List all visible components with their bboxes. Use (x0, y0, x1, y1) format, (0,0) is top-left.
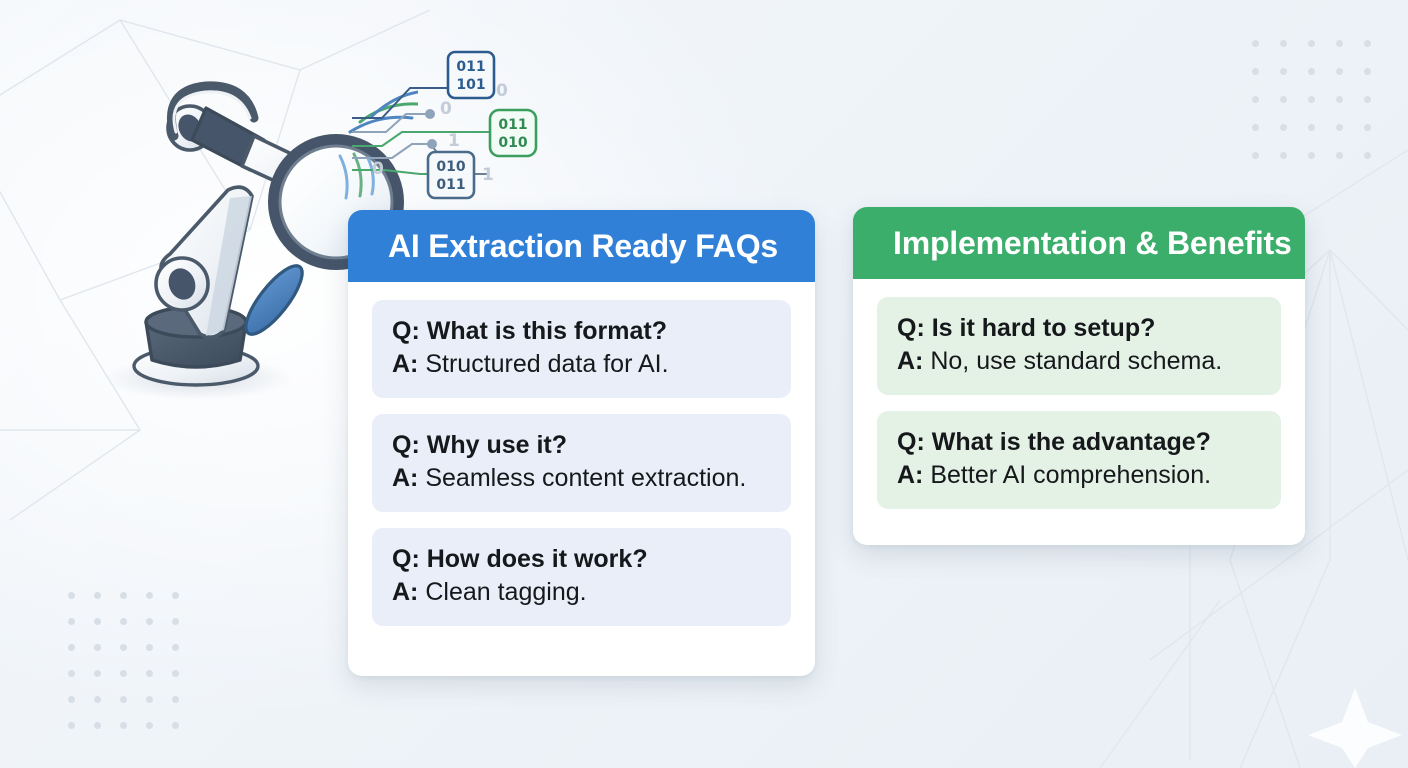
grid-dot (1308, 40, 1315, 47)
faq-item[interactable]: Q: What is this format? A: Structured da… (372, 300, 791, 398)
circuit-trace-slate-1 (352, 114, 428, 132)
svg-text:011: 011 (498, 117, 527, 133)
grid-dot (68, 722, 75, 729)
grid-dot (1336, 152, 1343, 159)
grid-dot (68, 644, 75, 651)
binary-box-green: 011 010 (490, 110, 536, 156)
answer-text: Better AI comprehension. (930, 461, 1211, 489)
faq-question-line: Q: Why use it? (392, 429, 771, 462)
faq-answer-line: A: No, use standard schema. (897, 345, 1261, 378)
grid-dot (68, 696, 75, 703)
answer-tag: A: (897, 347, 923, 375)
faq-item[interactable]: Q: Why use it? A: Seamless content extra… (372, 414, 791, 512)
faq-item[interactable]: Q: What is the advantage? A: Better AI c… (877, 411, 1281, 509)
question-tag: Q: (392, 317, 420, 345)
grid-dot (94, 696, 101, 703)
grid-dot (1308, 152, 1315, 159)
grid-dot (1252, 68, 1259, 75)
grid-dot (172, 722, 179, 729)
faq-question-line: Q: Is it hard to setup? (897, 312, 1261, 345)
faq-item[interactable]: Q: How does it work? A: Clean tagging. (372, 528, 791, 626)
binary-box-blue: 011 101 (448, 52, 494, 98)
loose-digit-0-c: 0 (372, 159, 384, 179)
answer-text: Structured data for AI. (425, 350, 668, 378)
grid-dot (1280, 40, 1287, 47)
grid-dot (1280, 96, 1287, 103)
binary-box-slate: 010 011 (428, 152, 474, 198)
faq-answer-line: A: Structured data for AI. (392, 348, 771, 381)
grid-dot (172, 644, 179, 651)
grid-dot (1364, 68, 1371, 75)
grid-dot (1364, 40, 1371, 47)
card-body-left: Q: What is this format? A: Structured da… (348, 282, 815, 650)
faq-card-ai-extraction-ready: AI Extraction Ready FAQs Q: What is this… (348, 210, 815, 676)
question-tag: Q: (897, 428, 925, 456)
grid-dot (146, 592, 153, 599)
grid-dot (120, 592, 127, 599)
question-tag: Q: (897, 314, 925, 342)
grid-dot (146, 644, 153, 651)
grid-dot (1280, 124, 1287, 131)
grid-dot (172, 696, 179, 703)
card-title-right: Implementation & Benefits (893, 227, 1292, 259)
binary-circuit-graphic: 0 0 1 0 1 011 101 011 010 010 011 (352, 40, 592, 200)
sparkle-decor (1308, 688, 1402, 768)
svg-text:010: 010 (498, 135, 527, 151)
grid-dot (1308, 68, 1315, 75)
grid-dot (94, 722, 101, 729)
grid-dot (68, 618, 75, 625)
grid-dot (94, 592, 101, 599)
grid-dot (120, 722, 127, 729)
circuit-node-2 (427, 139, 437, 149)
question-text: What is the advantage? (932, 428, 1211, 456)
faq-question-line: Q: What is this format? (392, 315, 771, 348)
answer-text: No, use standard schema. (930, 347, 1222, 375)
faq-card-implementation-benefits: Implementation & Benefits Q: Is it hard … (853, 207, 1305, 545)
grid-dot (68, 592, 75, 599)
slide-canvas: 0 0 1 0 1 011 101 011 010 010 011 AI Ext… (0, 0, 1408, 768)
grid-dot (94, 618, 101, 625)
faq-question-line: Q: How does it work? (392, 543, 771, 576)
dot-grid-bottom-left (68, 592, 179, 729)
answer-text: Clean tagging. (425, 578, 586, 606)
grid-dot (172, 670, 179, 677)
grid-dot (1252, 124, 1259, 131)
dot-grid-top-right (1252, 40, 1371, 159)
circuit-node-1 (425, 109, 435, 119)
grid-dot (120, 696, 127, 703)
grid-dot (1252, 152, 1259, 159)
question-text: Why use it? (427, 431, 567, 459)
grid-dot (146, 722, 153, 729)
grid-dot (146, 670, 153, 677)
question-text: How does it work? (427, 545, 648, 573)
svg-text:010: 010 (436, 159, 465, 175)
grid-dot (146, 618, 153, 625)
answer-tag: A: (392, 464, 418, 492)
faq-answer-line: A: Seamless content extraction. (392, 462, 771, 495)
grid-dot (120, 670, 127, 677)
grid-dot (146, 696, 153, 703)
grid-dot (1336, 124, 1343, 131)
grid-dot (1336, 68, 1343, 75)
question-tag: Q: (392, 545, 420, 573)
grid-dot (94, 644, 101, 651)
grid-dot (68, 670, 75, 677)
grid-dot (120, 618, 127, 625)
grid-dot (1308, 96, 1315, 103)
grid-dot (1364, 96, 1371, 103)
loose-digit-0-a: 0 (496, 81, 508, 101)
loose-digit-1-a: 1 (448, 131, 460, 151)
faq-question-line: Q: What is the advantage? (897, 426, 1261, 459)
svg-text:101: 101 (456, 77, 485, 93)
grid-dot (1364, 152, 1371, 159)
faq-item[interactable]: Q: Is it hard to setup? A: No, use stand… (877, 297, 1281, 395)
svg-text:011: 011 (456, 59, 485, 75)
faq-answer-line: A: Clean tagging. (392, 576, 771, 609)
loose-digit-0-b: 0 (440, 99, 452, 119)
answer-tag: A: (392, 578, 418, 606)
question-text: Is it hard to setup? (932, 314, 1156, 342)
card-header-green: Implementation & Benefits (853, 207, 1305, 279)
answer-tag: A: (392, 350, 418, 378)
card-title-left: AI Extraction Ready FAQs (388, 230, 778, 262)
grid-dot (1252, 96, 1259, 103)
magnifier-handle (237, 258, 311, 341)
question-text: What is this format? (427, 317, 667, 345)
grid-dot (1308, 124, 1315, 131)
card-header-blue: AI Extraction Ready FAQs (348, 210, 815, 282)
answer-tag: A: (897, 461, 923, 489)
faq-answer-line: A: Better AI comprehension. (897, 459, 1261, 492)
grid-dot (1252, 40, 1259, 47)
grid-dot (1280, 68, 1287, 75)
grid-dot (172, 618, 179, 625)
grid-dot (1336, 40, 1343, 47)
grid-dot (1280, 152, 1287, 159)
grid-dot (94, 670, 101, 677)
grid-dot (172, 592, 179, 599)
grid-dot (1336, 96, 1343, 103)
grid-dot (120, 644, 127, 651)
question-tag: Q: (392, 431, 420, 459)
card-body-right: Q: Is it hard to setup? A: No, use stand… (853, 279, 1305, 533)
answer-text: Seamless content extraction. (425, 464, 746, 492)
loose-digit-1-b: 1 (482, 165, 494, 185)
svg-text:011: 011 (436, 177, 465, 193)
grid-dot (1364, 124, 1371, 131)
